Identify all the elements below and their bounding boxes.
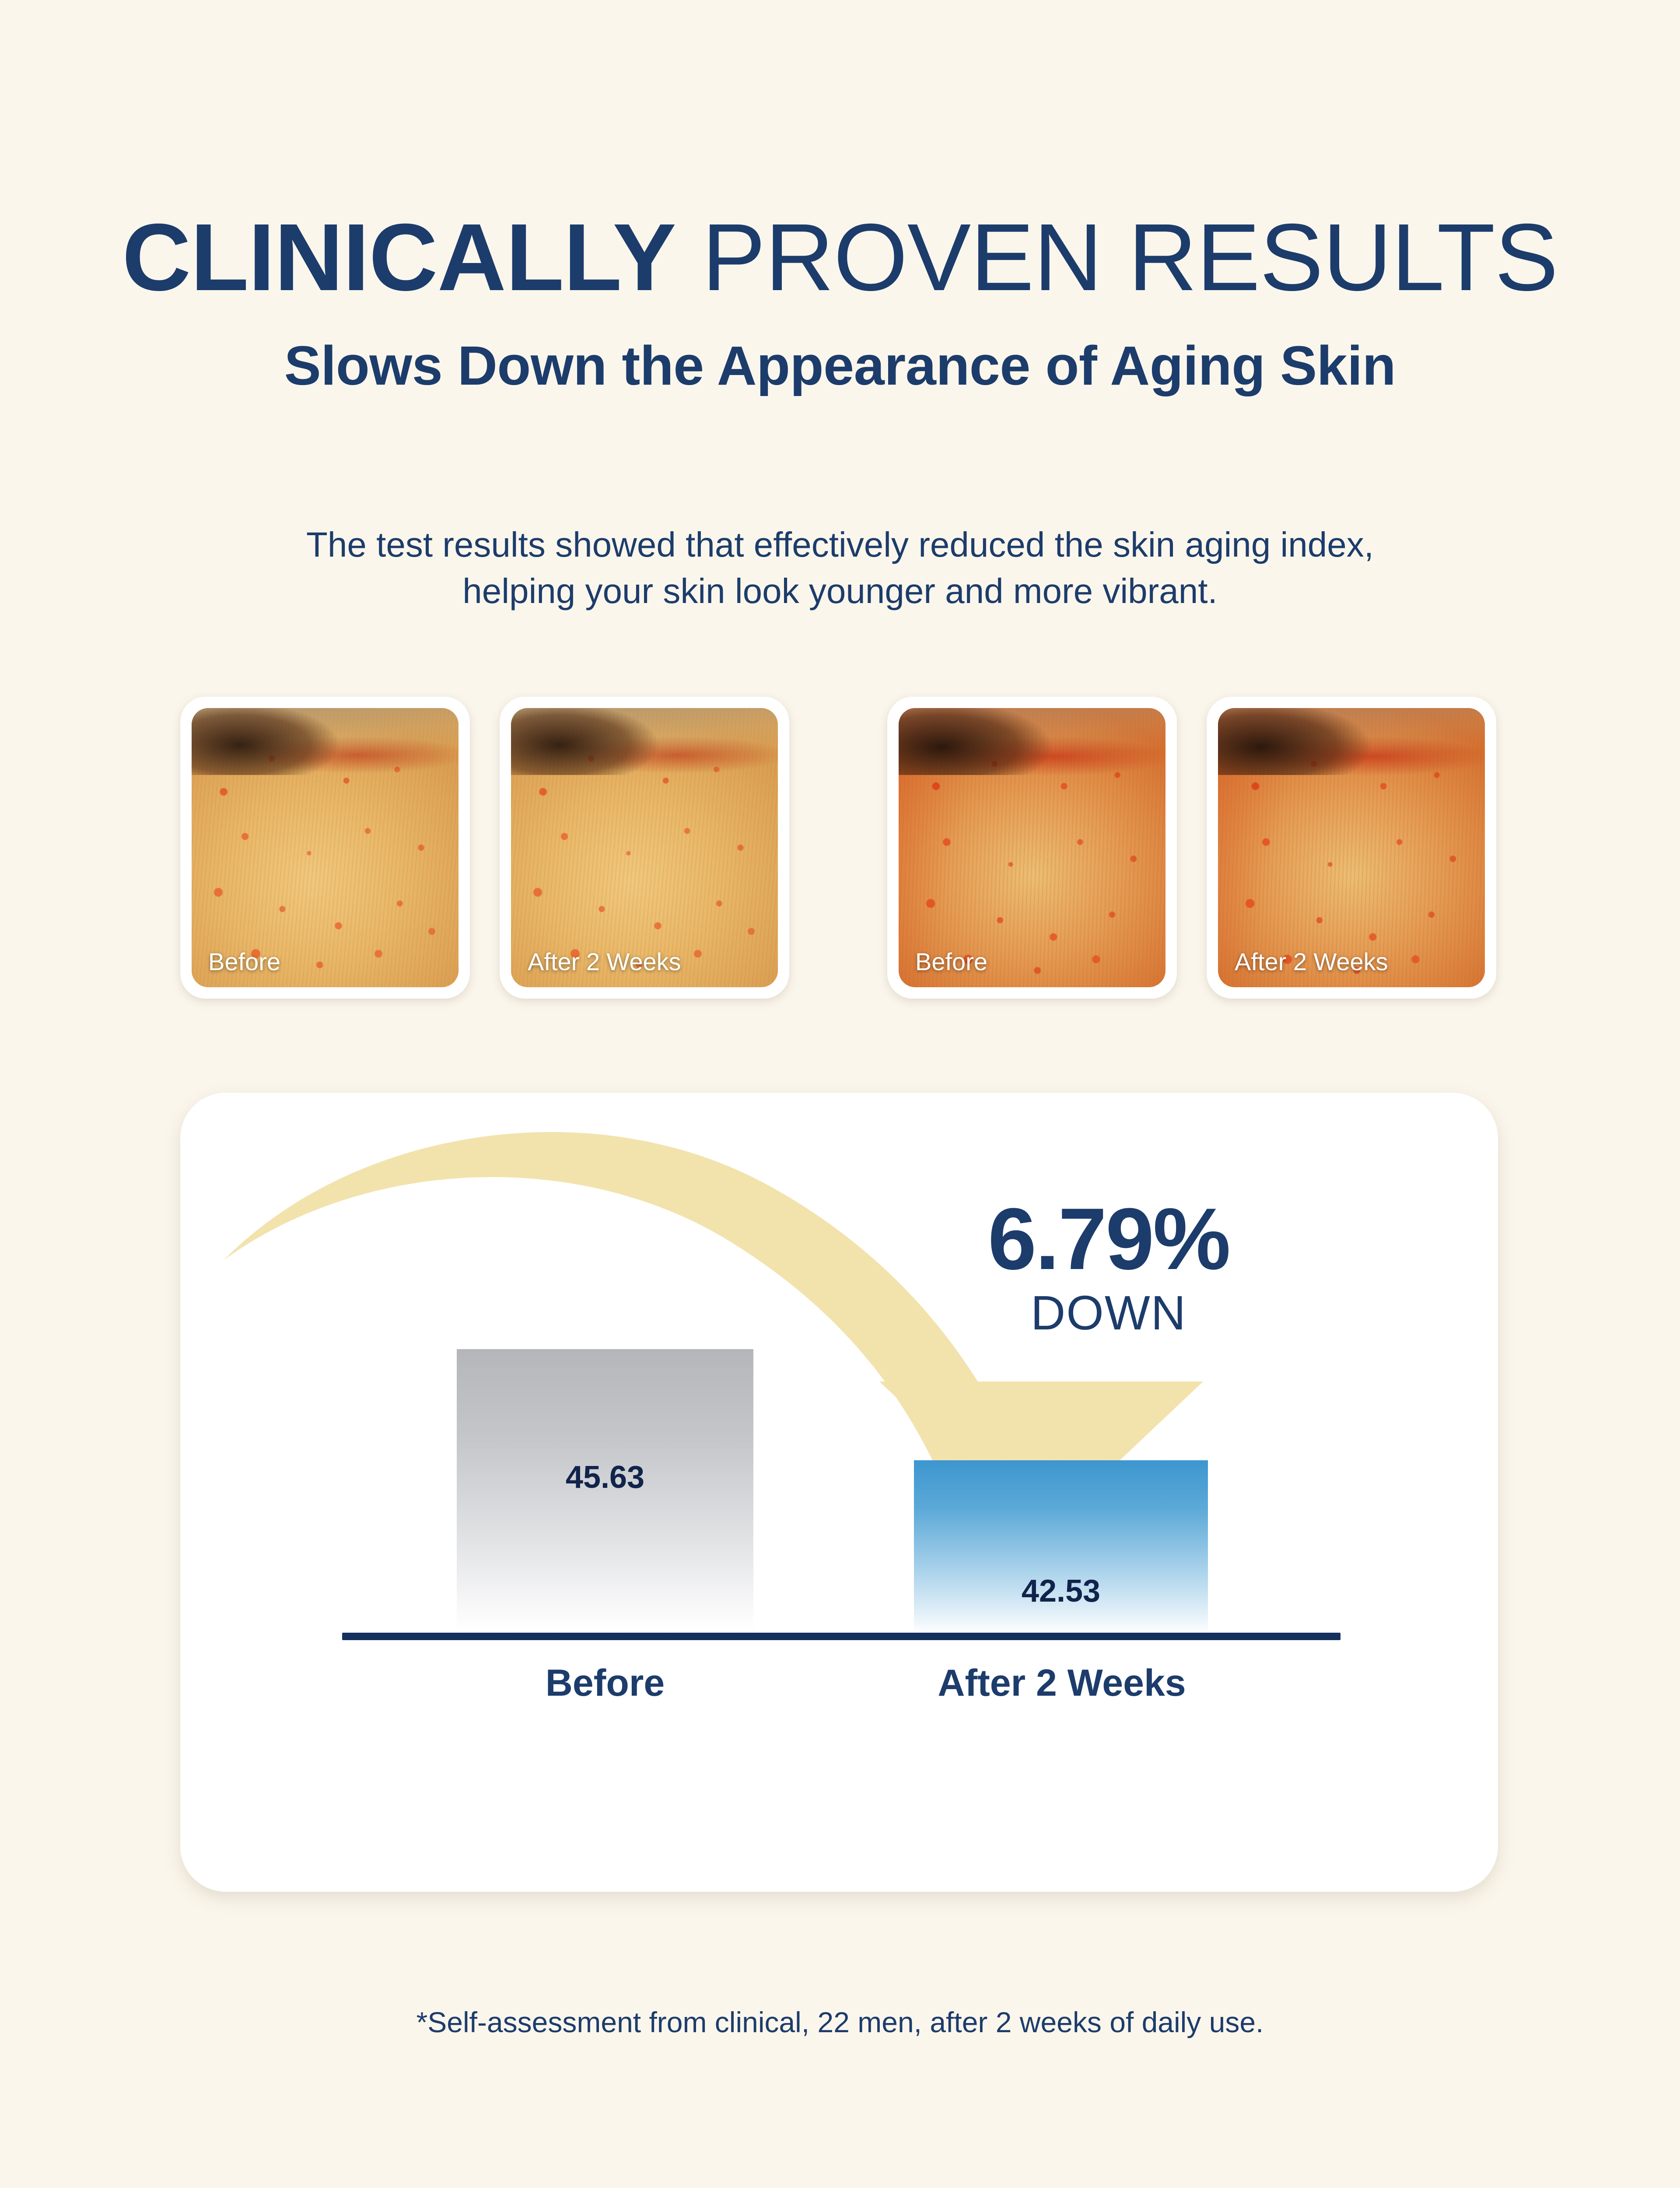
axis-baseline [342,1633,1340,1640]
chart-card: 6.79% DOWN 45.63 42.53 Before After 2 We… [180,1093,1498,1892]
thumbnail-caption: Before [208,947,280,976]
skin-photo-icon [899,708,1165,987]
thumbnail-caption: After 2 Weeks [528,947,681,976]
header-block: CLINICALLY PROVEN RESULTS Slows Down the… [0,210,1680,395]
axis-label-before: Before [457,1662,753,1705]
before-after-gallery: Before After 2 Weeks Before [0,697,1680,999]
page-title-bold: CLINICALLY [122,204,676,311]
thumbnail-caption: After 2 Weeks [1235,947,1388,976]
bar-after-value: 42.53 [914,1573,1208,1609]
reduction-callout: 6.79% DOWN [912,1196,1305,1337]
thumbnail-pair1-after[interactable]: After 2 Weeks [500,697,789,999]
skin-photo-icon [192,708,458,987]
skin-photo-icon [511,708,778,987]
reduction-direction: DOWN [912,1289,1305,1337]
thumbnail-image-pair1-before: Before [192,708,458,987]
thumbnail-image-pair2-after: After 2 Weeks [1218,708,1485,987]
lede-line-1: The test results showed that effectively… [306,525,1374,564]
thumbnail-pair1-before[interactable]: Before [180,697,470,999]
lede-line-2: helping your skin look younger and more … [0,568,1680,614]
page-title: CLINICALLY PROVEN RESULTS [0,210,1680,305]
axis-label-after: After 2 Weeks [889,1662,1235,1705]
footnote: *Self-assessment from clinical, 22 men, … [0,2006,1680,2039]
thumbnail-image-pair1-after: After 2 Weeks [511,708,778,987]
thumbnail-caption: Before [915,947,987,976]
chart-area: 6.79% DOWN 45.63 42.53 Before After 2 We… [180,1093,1498,1892]
thumbnail-pair2-before[interactable]: Before [887,697,1177,999]
infographic-page: CLINICALLY PROVEN RESULTS Slows Down the… [0,0,1680,2188]
reduction-percent: 6.79% [912,1196,1305,1283]
bar-after-2-weeks: 42.53 [914,1460,1208,1634]
bar-before-value: 45.63 [457,1459,753,1495]
bar-before: 45.63 [457,1349,753,1634]
page-title-rest: PROVEN RESULTS [676,204,1558,311]
skin-photo-icon [1218,708,1485,987]
axis-category-labels: Before After 2 Weeks [180,1662,1498,1714]
thumbnail-pair2-after[interactable]: After 2 Weeks [1207,697,1496,999]
lede-paragraph: The test results showed that effectively… [0,522,1680,615]
page-subtitle: Slows Down the Appearance of Aging Skin [0,337,1680,395]
thumbnail-image-pair2-before: Before [899,708,1165,987]
